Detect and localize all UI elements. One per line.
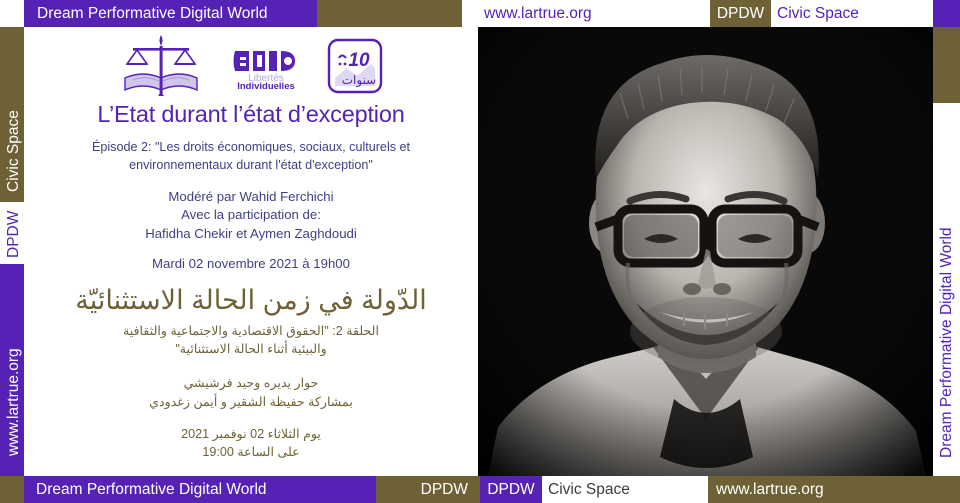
french-title: L’Etat durant l’état d’exception (24, 101, 478, 128)
left-rail-website-label: www.lartrue.org (2, 348, 24, 456)
left-rail-website-segment[interactable]: www.lartrue.org (0, 264, 24, 476)
arabic-credits: حوار يديره وحيد فرشيشي بمشاركة حفيظة الش… (24, 374, 478, 411)
arabic-date-line1: يوم الثلاثاء 02 نوفمبر 2021 (24, 425, 478, 443)
top-bar-civic-space-segment: Civic Space (771, 0, 933, 27)
french-credits: Modéré par Wahid Ferchichi Avec la parti… (24, 188, 478, 244)
arabic-subtitle-line1: الحلقة 2: "الحقوق الاقتصادية والاجتماعية… (94, 322, 408, 340)
arabic-date-line2: على الساعة 19:00 (24, 443, 478, 461)
top-bar-website-segment[interactable]: www.lartrue.org (462, 0, 710, 27)
arabic-title: الدّولة في زمن الحالة الاستثنائيّة (24, 285, 478, 316)
bottom-bar-dpdw-olive-label: DPDW (421, 482, 480, 498)
right-rail-olive-segment (933, 27, 960, 103)
bottom-bar-website-label: www.lartrue.org (708, 482, 824, 498)
left-rail-civic-space-label: Civic Space (2, 110, 24, 192)
anniversary-arabic: سنوات (342, 73, 377, 88)
libertes-individuelles-logo: Libertés Individuelles (231, 39, 301, 93)
logo-row: Libertés Individuelles 10 سنوات (24, 31, 478, 101)
bottom-bar-website-segment[interactable]: www.lartrue.org (708, 476, 960, 503)
french-participation-label: Avec la participation de: (24, 206, 478, 225)
bottom-bar-dpdw-olive-segment: DPDW (376, 476, 480, 503)
right-rail-brand-segment: Dream Performative Digital World (933, 103, 960, 476)
scales-of-justice-icon (119, 34, 205, 98)
anniversary-10-logo: 10 سنوات (327, 38, 383, 94)
arabic-date: يوم الثلاثاء 02 نوفمبر 2021 على الساعة 1… (24, 425, 478, 462)
arabic-subtitle: الحلقة 2: "الحقوق الاقتصادية والاجتماعية… (24, 322, 478, 359)
french-participants: Hafidha Chekir et Aymen Zaghdoudi (24, 225, 478, 244)
right-rail-brand-label: Dream Performative Digital World (937, 227, 957, 458)
french-moderator: Modéré par Wahid Ferchichi (24, 188, 478, 207)
bottom-bar-dpdw-purple-label: DPDW (487, 482, 534, 498)
top-bar-dpdw-segment: DPDW (710, 0, 771, 27)
french-date: Mardi 02 novembre 2021 à 19h00 (24, 256, 478, 271)
top-bar-brand-segment: Dream Performative Digital World (24, 0, 317, 27)
bottom-bar-brand-label: Dream Performative Digital World (24, 482, 267, 498)
bottom-bar-dpdw-purple-segment: DPDW (480, 476, 542, 503)
top-bar-olive-spacer (317, 0, 462, 27)
poster-content: Libertés Individuelles 10 سنوات L’Etat d… (24, 27, 478, 476)
bottom-bar-civic-space-segment: Civic Space (542, 476, 708, 503)
arabic-subtitle-line2: والبيئية أثناء الحالة الاستثنائية" (94, 340, 408, 358)
left-rail: Civic Space DPDW www.lartrue.org (0, 27, 24, 476)
left-rail-dpdw-segment: DPDW (0, 202, 24, 264)
top-bar-civic-space-label: Civic Space (771, 6, 859, 22)
bottom-bar-brand-segment: Dream Performative Digital World (24, 476, 376, 503)
top-bar-website-label: www.lartrue.org (462, 6, 592, 22)
right-rail: Dream Performative Digital World (933, 27, 960, 476)
speaker-portrait-photo (478, 27, 933, 476)
arabic-moderator: حوار يديره وحيد فرشيشي (24, 374, 478, 392)
left-rail-civic-space-segment: Civic Space (0, 27, 24, 202)
french-subtitle: Épisode 2: "Les droits économiques, soci… (24, 139, 478, 175)
top-bar-right-corner (933, 0, 960, 27)
poster-canvas: Dream Performative Digital World www.lar… (0, 0, 960, 503)
arabic-participants: بمشاركة حفيظة الشقير و أيمن زغدودي (24, 393, 478, 411)
top-bar: Dream Performative Digital World www.lar… (0, 0, 960, 27)
libertes-line2: Individuelles (237, 81, 295, 92)
bottom-bar: Dream Performative Digital World DPDW DP… (0, 476, 960, 503)
left-rail-dpdw-label: DPDW (2, 211, 24, 258)
top-bar-dpdw-label: DPDW (717, 6, 764, 22)
bottom-bar-civic-space-label: Civic Space (542, 482, 630, 498)
anniversary-number: 10 (348, 50, 370, 71)
top-bar-brand-label: Dream Performative Digital World (24, 6, 268, 22)
